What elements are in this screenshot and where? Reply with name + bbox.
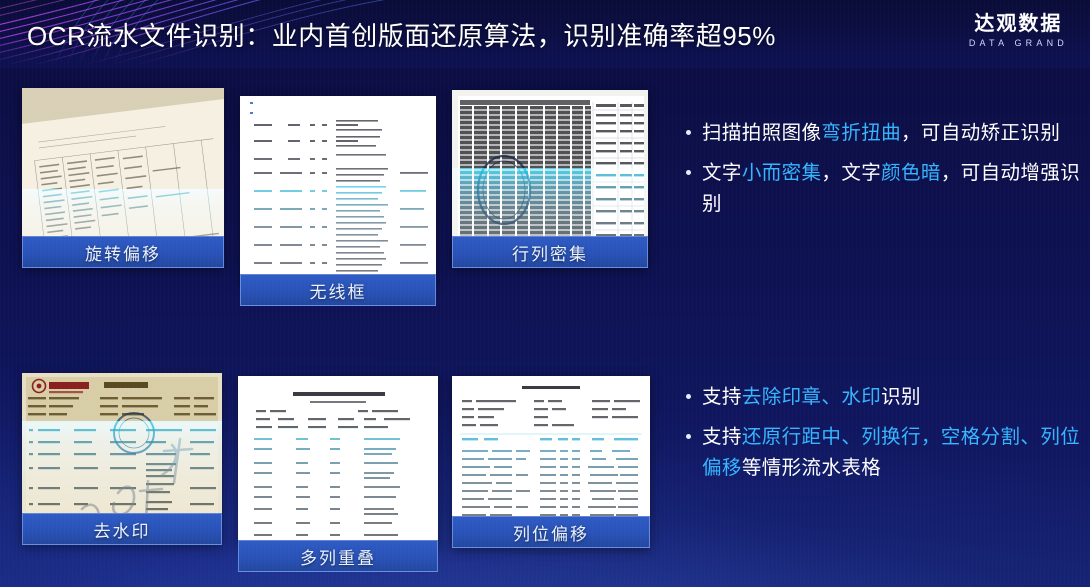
thumbnail-card-2[interactable]: 行列密集 [452,90,648,268]
thumbnail-image-4 [238,376,438,548]
thumbnail-card-5[interactable]: 列位偏移 [452,376,650,548]
plain-text: 支持 [702,386,742,408]
logo-chinese: 达观数据 [969,13,1068,35]
page-title: OCR流水文件识别：业内首创版面还原算法，识别准确率超95% [27,16,776,53]
thumbnail-caption-2: 行列密集 [452,236,648,268]
logo-english: DATA GRAND [969,38,1068,48]
slide-background: OCR流水文件识别：业内首创版面还原算法，识别准确率超95% 达观数据 DATA… [0,0,1090,587]
bullet-layout-restore: 支持还原行距中、列换行，空格分割、列位偏移等情形流水表格 [686,422,1082,485]
thumbnail-card-1[interactable]: 无线框 [240,96,436,284]
plain-text: 文字 [702,162,742,184]
thumbnail-caption-1: 无线框 [240,274,436,306]
thumbnail-card-3[interactable]: 去水印 [22,373,222,545]
thumbnail-caption-0: 旋转偏移 [22,236,224,268]
doc-multi-column-overlap [238,376,438,548]
brand-logo: 达观数据 DATA GRAND [969,13,1068,48]
thumbnail-card-4[interactable]: 多列重叠 [238,376,438,548]
bullet-stamp-watermark: 支持去除印章、水印识别 [686,382,1082,414]
thumbnail-caption-3: 去水印 [22,513,222,545]
plain-text: ，文字 [821,162,881,184]
plain-text: 支持 [702,426,742,448]
thumbnail-caption-4: 多列重叠 [238,540,438,572]
thumbnail-grid: 旋转偏移 [0,68,672,568]
highlight-text: 去除印章、水印 [742,386,881,408]
plain-text: ，可自动矫正识别 [901,122,1060,144]
thumbnail-card-0[interactable]: 旋转偏移 [22,88,224,268]
doc-borderless-table [240,96,436,284]
plain-text: 扫描拍照图像 [702,122,821,144]
plain-text: 识别 [881,386,921,408]
feature-list-top: 扫描拍照图像弯折扭曲，可自动矫正识别 文字小而密集，文字颜色暗，可自动增强识别 [686,118,1082,229]
highlight-text: 小而密集 [742,162,822,184]
bullet-small-dense: 文字小而密集，文字颜色暗，可自动增强识别 [686,158,1082,221]
thumbnail-image-1 [240,96,436,284]
slide-header: OCR流水文件识别：业内首创版面还原算法，识别准确率超95% 达观数据 DATA… [0,0,1090,68]
bullet-distortion: 扫描拍照图像弯折扭曲，可自动矫正识别 [686,118,1082,150]
highlight-text: 弯折扭曲 [821,122,901,144]
thumbnail-caption-5: 列位偏移 [452,516,650,548]
plain-text: 等情形流水表格 [742,457,881,479]
highlight-text: 颜色暗 [881,162,941,184]
feature-list-bottom: 支持去除印章、水印识别 支持还原行距中、列换行，空格分割、列位偏移等情形流水表格 [686,382,1082,493]
